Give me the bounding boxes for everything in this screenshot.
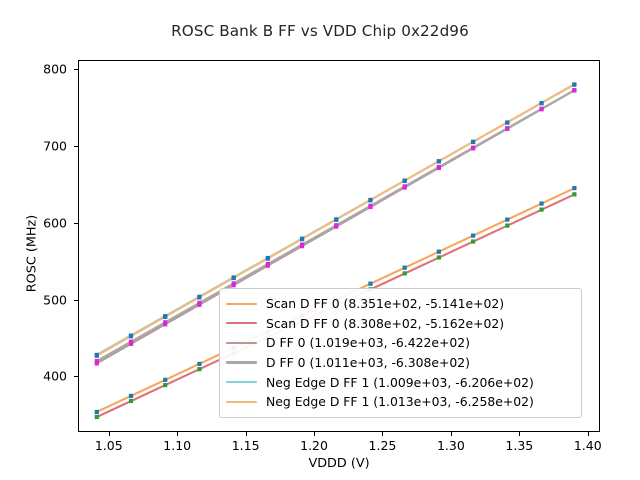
- legend-item[interactable]: Scan D FF 0 (8.351e+02, -5.141e+02): [226, 294, 573, 314]
- x-tick-label: 1.40: [558, 438, 618, 453]
- data-point-marker: [95, 415, 99, 419]
- legend-color-swatch: [226, 342, 257, 344]
- data-point-marker: [437, 165, 441, 169]
- data-point-marker: [197, 362, 201, 366]
- y-tick-label: 800: [7, 62, 67, 77]
- y-tick-mark: [74, 69, 78, 70]
- x-tick-mark: [314, 432, 315, 436]
- legend-color-swatch: [226, 381, 257, 383]
- y-tick-label: 400: [7, 369, 67, 384]
- matplotlib-figure: ROSC Bank B FF vs VDD Chip 0x22d96 40050…: [0, 0, 640, 480]
- legend-item-label: D FF 0 (1.011e+03, -6.308e+02): [266, 355, 470, 370]
- data-point-marker: [572, 192, 576, 196]
- data-point-marker: [232, 281, 236, 285]
- data-point-marker: [539, 107, 543, 111]
- data-point-marker: [163, 315, 167, 319]
- legend-color-swatch: [226, 401, 257, 403]
- data-point-marker: [437, 159, 441, 163]
- y-axis-label: ROSC (MHz): [25, 194, 40, 314]
- data-point-marker: [95, 410, 99, 414]
- data-point-marker: [163, 320, 167, 324]
- data-point-marker: [403, 179, 407, 183]
- data-point-marker: [505, 126, 509, 130]
- data-point-marker: [505, 223, 509, 227]
- data-point-marker: [95, 359, 99, 363]
- legend-item-label: Neg Edge D FF 1 (1.009e+03, -6.206e+02): [266, 375, 534, 390]
- legend-color-swatch: [226, 303, 257, 305]
- data-point-marker: [266, 256, 270, 260]
- legend-item-label: Neg Edge D FF 1 (1.013e+03, -6.258e+02): [266, 394, 534, 409]
- x-tick-mark: [382, 432, 383, 436]
- data-point-marker: [368, 198, 372, 202]
- legend-item[interactable]: Neg Edge D FF 1 (1.009e+03, -6.206e+02): [226, 372, 573, 392]
- x-tick-label: 1.05: [79, 438, 139, 453]
- data-point-marker: [572, 82, 576, 86]
- data-point-marker: [232, 276, 236, 280]
- y-tick-mark: [74, 376, 78, 377]
- data-point-marker: [403, 184, 407, 188]
- y-tick-mark: [74, 223, 78, 224]
- data-point-marker: [572, 186, 576, 190]
- data-point-marker: [437, 255, 441, 259]
- data-point-marker: [471, 146, 475, 150]
- data-point-marker: [539, 201, 543, 205]
- legend-item-label: Scan D FF 0 (8.308e+02, -5.162e+02): [266, 316, 504, 331]
- data-point-marker: [95, 354, 99, 358]
- data-point-marker: [129, 340, 133, 344]
- legend-color-swatch: [226, 322, 257, 324]
- data-point-marker: [471, 140, 475, 144]
- legend-item-label: D FF 0 (1.019e+03, -6.422e+02): [266, 335, 470, 350]
- x-tick-mark: [177, 432, 178, 436]
- data-point-marker: [129, 399, 133, 403]
- data-point-marker: [300, 237, 304, 241]
- data-point-marker: [368, 204, 372, 208]
- x-tick-mark: [451, 432, 452, 436]
- data-point-marker: [300, 243, 304, 247]
- data-point-marker: [505, 217, 509, 221]
- data-point-marker: [471, 234, 475, 238]
- data-point-marker: [368, 282, 372, 286]
- y-tick-mark: [74, 300, 78, 301]
- data-point-marker: [334, 218, 338, 222]
- legend-item[interactable]: D FF 0 (1.019e+03, -6.422e+02): [226, 333, 573, 353]
- x-tick-label: 1.20: [284, 438, 344, 453]
- data-point-marker: [197, 301, 201, 305]
- data-point-marker: [572, 88, 576, 92]
- legend-item[interactable]: Neg Edge D FF 1 (1.013e+03, -6.258e+02): [226, 392, 573, 412]
- data-point-marker: [403, 271, 407, 275]
- chart-legend[interactable]: Scan D FF 0 (8.351e+02, -5.141e+02)Scan …: [219, 288, 582, 418]
- legend-item-label: Scan D FF 0 (8.351e+02, -5.141e+02): [266, 296, 504, 311]
- data-point-marker: [197, 367, 201, 371]
- y-tick-mark: [74, 146, 78, 147]
- x-tick-label: 1.15: [216, 438, 276, 453]
- x-tick-mark: [109, 432, 110, 436]
- data-point-marker: [539, 101, 543, 105]
- data-point-marker: [539, 208, 543, 212]
- data-point-marker: [471, 239, 475, 243]
- data-point-marker: [403, 266, 407, 270]
- data-point-marker: [437, 250, 441, 254]
- legend-item[interactable]: D FF 0 (1.011e+03, -6.308e+02): [226, 353, 573, 373]
- data-point-marker: [197, 295, 201, 299]
- legend-color-swatch: [226, 361, 257, 363]
- data-point-marker: [129, 334, 133, 338]
- data-point-marker: [266, 262, 270, 266]
- x-tick-mark: [588, 432, 589, 436]
- data-point-marker: [129, 394, 133, 398]
- x-tick-mark: [246, 432, 247, 436]
- data-point-marker: [163, 378, 167, 382]
- x-tick-label: 1.10: [147, 438, 207, 453]
- x-tick-mark: [519, 432, 520, 436]
- data-point-marker: [163, 383, 167, 387]
- data-point-marker: [505, 120, 509, 124]
- data-point-marker: [334, 223, 338, 227]
- y-tick-label: 700: [7, 138, 67, 153]
- chart-title: ROSC Bank B FF vs VDD Chip 0x22d96: [0, 22, 640, 40]
- legend-item[interactable]: Scan D FF 0 (8.308e+02, -5.162e+02): [226, 314, 573, 334]
- x-tick-label: 1.25: [352, 438, 412, 453]
- x-tick-label: 1.30: [421, 438, 481, 453]
- x-axis-label: VDDD (V): [78, 456, 600, 471]
- x-tick-label: 1.35: [489, 438, 549, 453]
